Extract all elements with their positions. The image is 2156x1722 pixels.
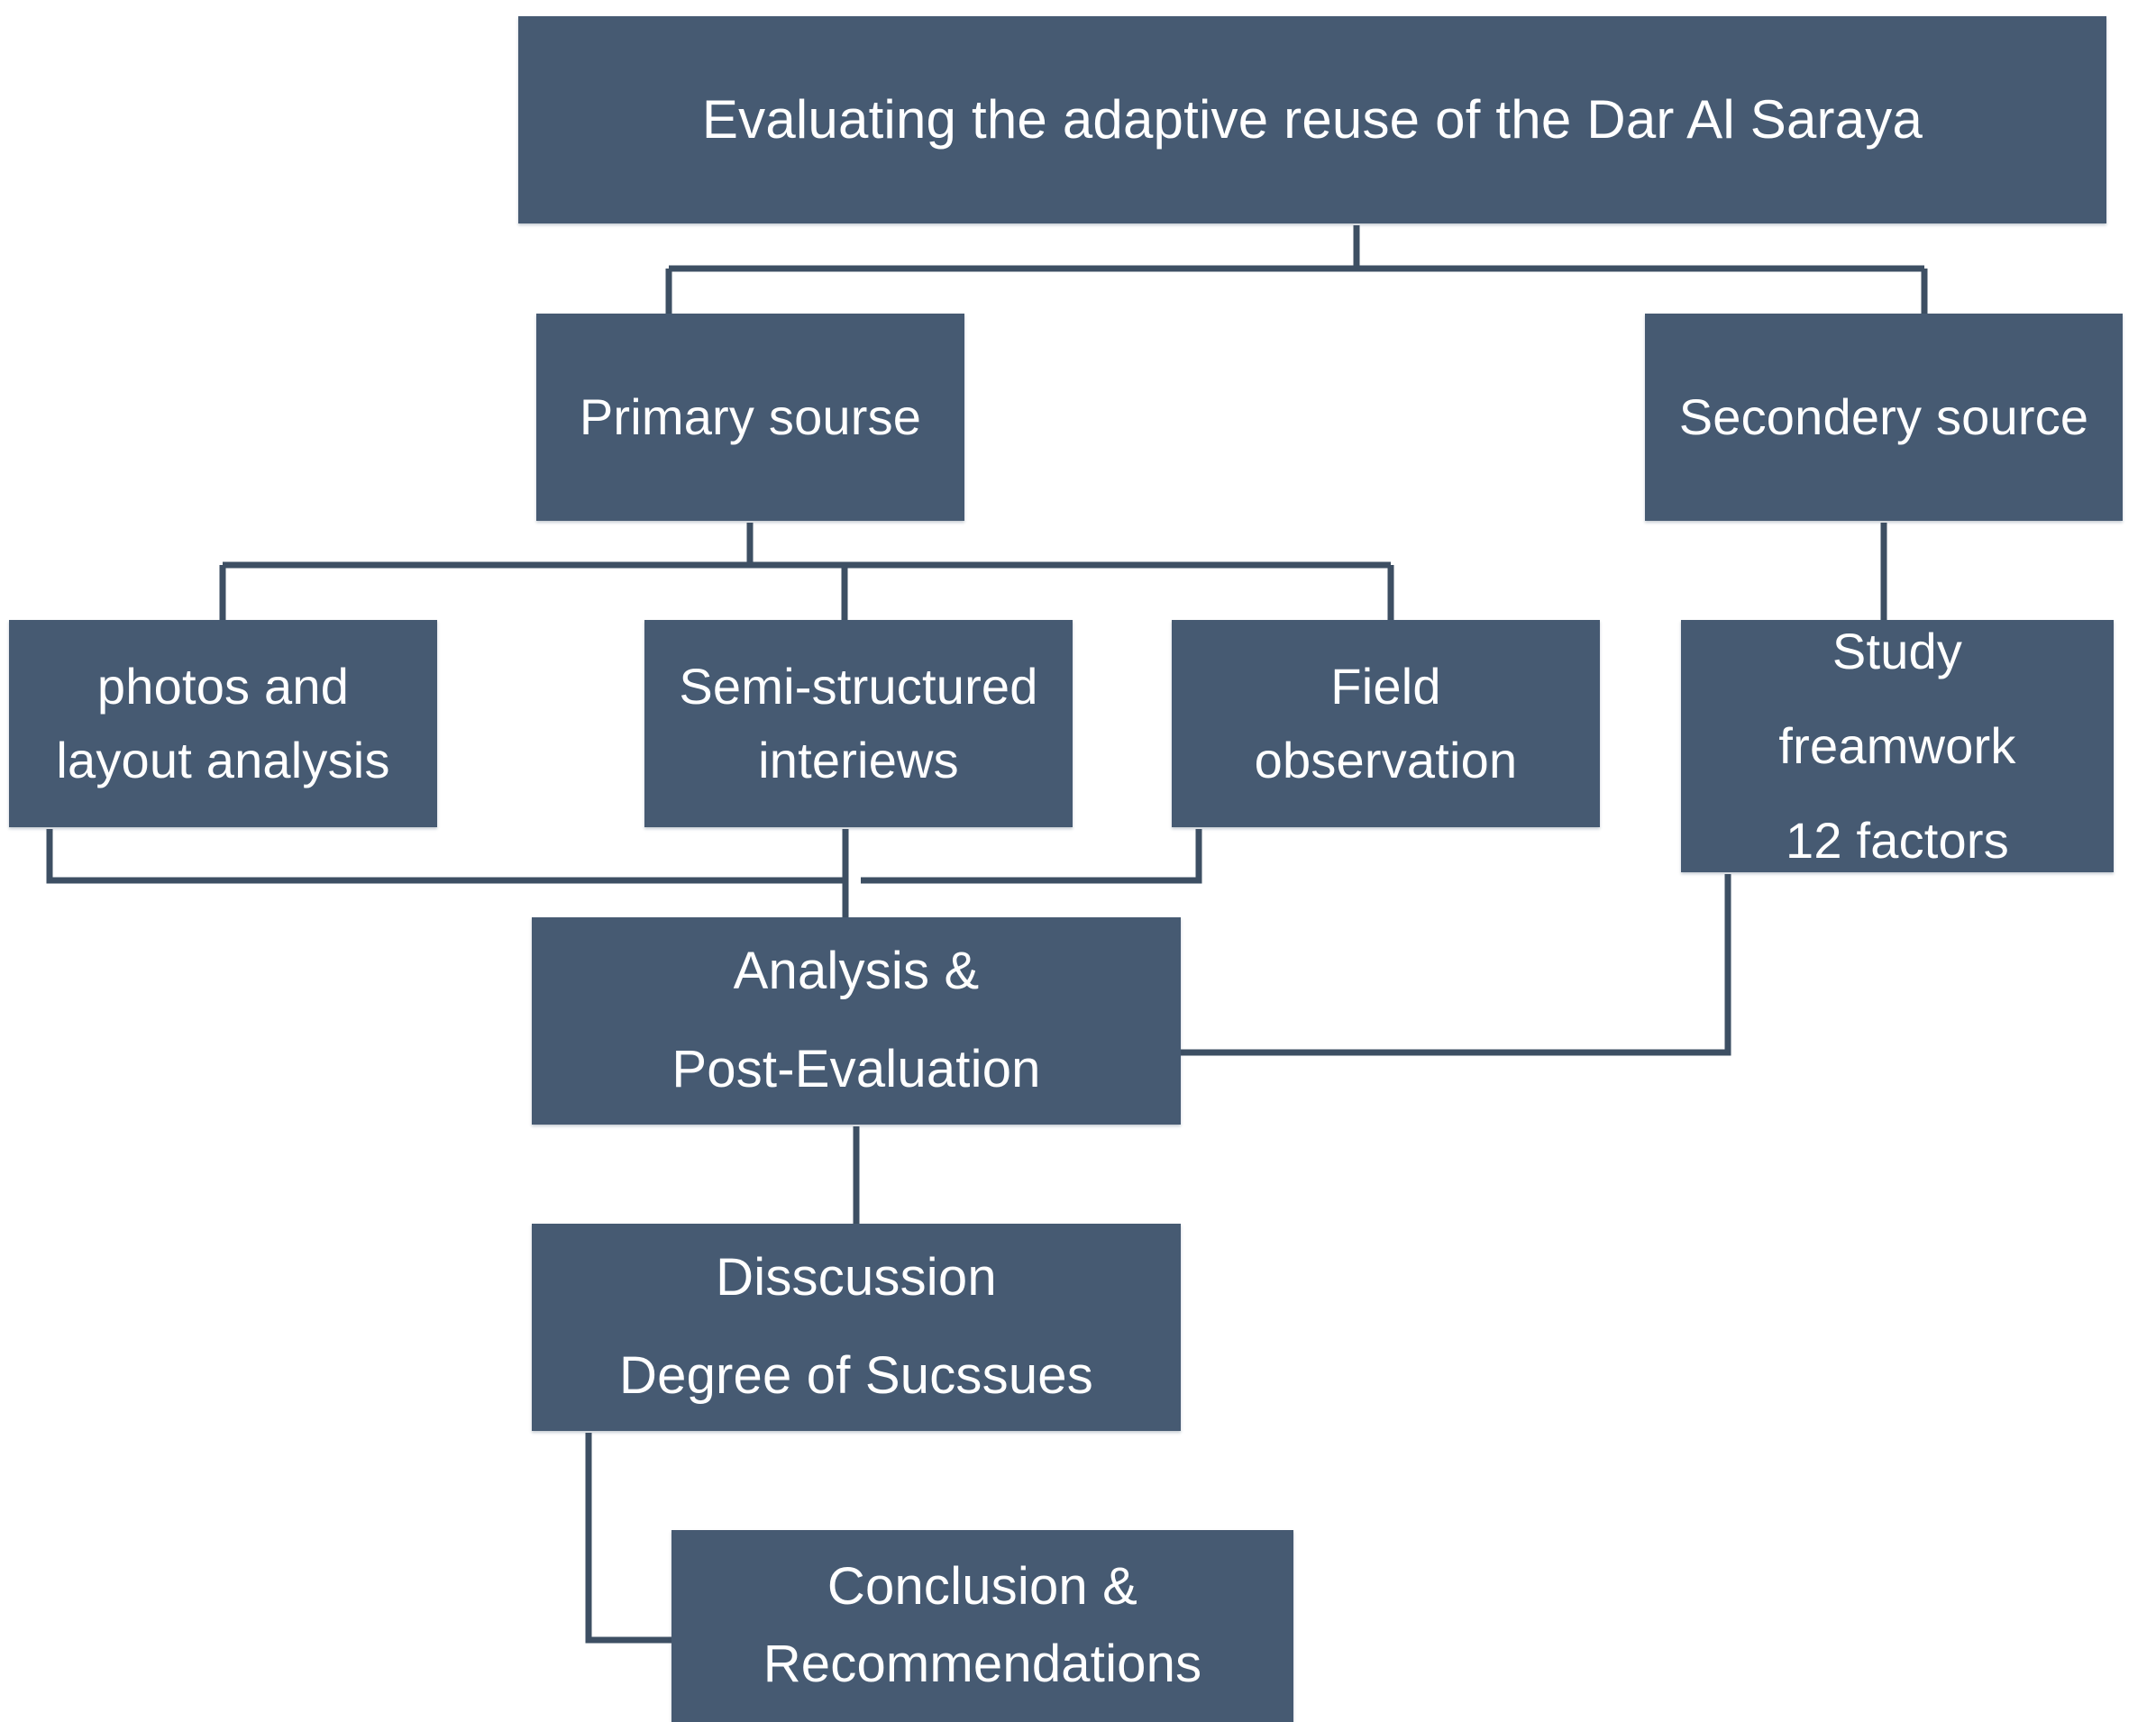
node-framework-line-3: 12 factors bbox=[1690, 811, 2105, 870]
edge-photos-to-analysis bbox=[50, 829, 845, 880]
node-interviews-line-2: interiews bbox=[653, 731, 1064, 790]
node-conclusion-line-1: Conclusion & bbox=[681, 1556, 1284, 1617]
node-title-line-1: Evaluating the adaptive reuse of the Dar… bbox=[527, 88, 2097, 152]
node-discussion-line-2: Degree of Sucssues bbox=[541, 1345, 1172, 1407]
node-primary-source[interactable]: Primary sourse bbox=[536, 314, 964, 521]
edge-field-to-analysis bbox=[861, 829, 1199, 880]
node-interviews-line-1: Semi-structured bbox=[653, 657, 1064, 716]
node-study-framework[interactable]: Study freamwork 12 factors bbox=[1681, 620, 2114, 872]
node-discussion-line-1: Disscussion bbox=[541, 1247, 1172, 1308]
node-analysis-line-1: Analysis & bbox=[541, 941, 1172, 1002]
node-primary-source-line-1: Primary sourse bbox=[545, 387, 955, 447]
node-discussion[interactable]: Disscussion Degree of Sucssues bbox=[532, 1224, 1181, 1431]
flowchart-canvas: Evaluating the adaptive reuse of the Dar… bbox=[0, 0, 2156, 1722]
node-conclusion-and-recommendations[interactable]: Conclusion & Recommendations bbox=[671, 1530, 1293, 1722]
edge-discussion-to-conclusion bbox=[589, 1433, 671, 1640]
node-photos-line-1: photos and bbox=[18, 657, 428, 716]
node-title[interactable]: Evaluating the adaptive reuse of the Dar… bbox=[518, 16, 2106, 223]
node-photos-and-layout-analysis[interactable]: photos and layout analysis bbox=[9, 620, 437, 827]
node-secondary-source[interactable]: Secondery source bbox=[1645, 314, 2123, 521]
node-field-line-2: observation bbox=[1181, 731, 1591, 790]
node-photos-line-2: layout analysis bbox=[18, 731, 428, 790]
node-semi-structured-interviews[interactable]: Semi-structured interiews bbox=[644, 620, 1073, 827]
node-secondary-source-line-1: Secondery source bbox=[1654, 387, 2114, 447]
node-framework-line-1: Study bbox=[1690, 622, 2105, 681]
node-conclusion-line-2: Recommendations bbox=[681, 1634, 1284, 1695]
node-field-observation[interactable]: Field observation bbox=[1172, 620, 1600, 827]
edge-framework-to-analysis bbox=[1181, 874, 1728, 1052]
node-framework-line-2: freamwork bbox=[1690, 716, 2105, 776]
node-field-line-1: Field bbox=[1181, 657, 1591, 716]
node-analysis-line-2: Post-Evaluation bbox=[541, 1039, 1172, 1100]
edge-title-to-sources bbox=[669, 225, 1924, 314]
edge-primary-to-children bbox=[223, 523, 1391, 620]
node-analysis-and-post-evaluation[interactable]: Analysis & Post-Evaluation bbox=[532, 917, 1181, 1125]
